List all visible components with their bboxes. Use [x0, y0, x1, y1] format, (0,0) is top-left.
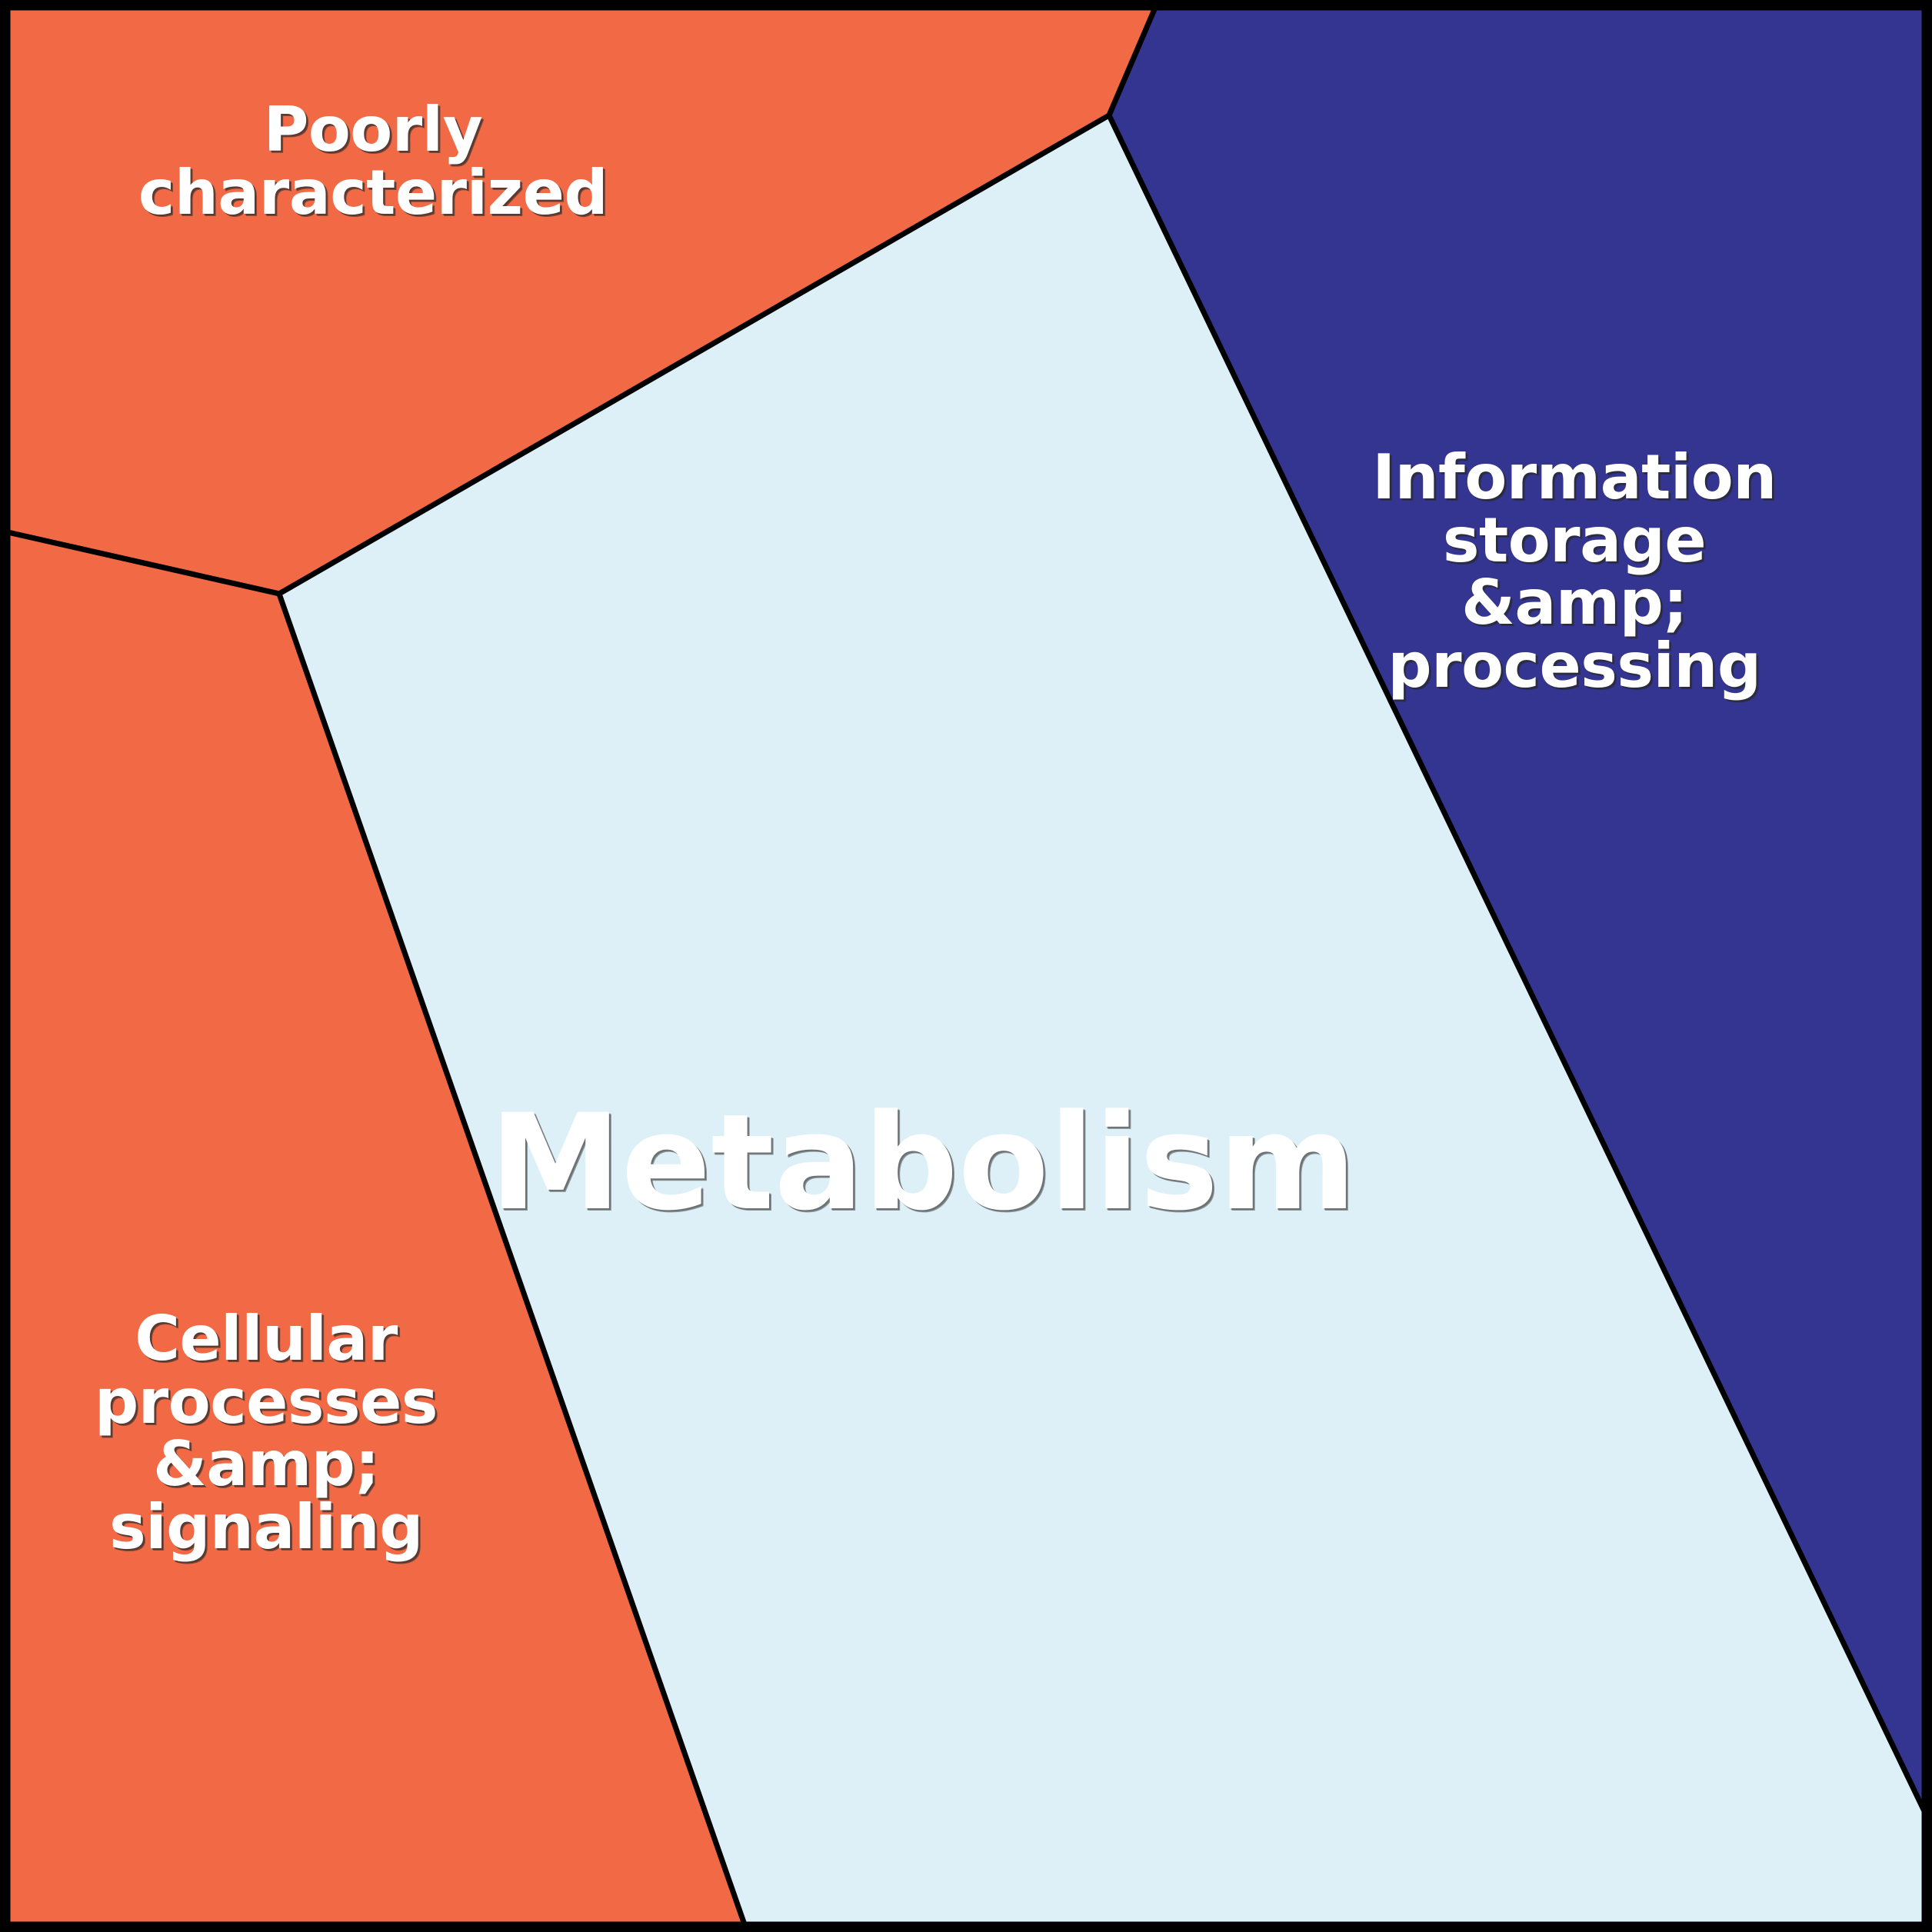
- voronoi-diagram: [0, 0, 1932, 1932]
- voronoi-treemap-figure: Poorly characterized Information storage…: [0, 0, 1932, 1932]
- voronoi-cells: [8, 8, 1924, 1924]
